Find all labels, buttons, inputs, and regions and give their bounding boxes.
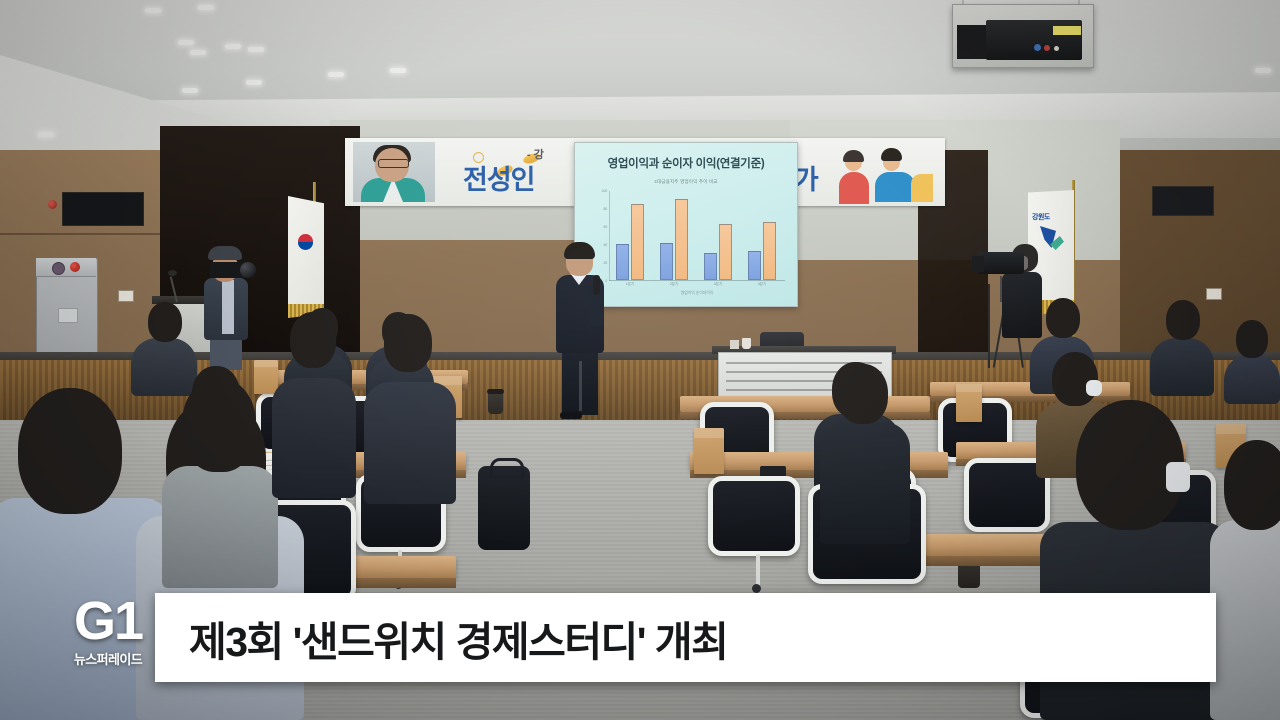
cup	[742, 338, 751, 349]
presenter	[552, 245, 610, 420]
chart-bar	[763, 222, 776, 280]
slide-title: 영업이익과 순이자 이익(연결기준)	[575, 155, 797, 171]
chart-x-tick: 1분기	[613, 282, 647, 287]
chair-leg	[756, 554, 760, 588]
chart-bar	[704, 253, 717, 280]
korean-flag-icon	[288, 196, 324, 316]
chart-y-tick: 100	[602, 189, 608, 193]
wall-display-panel	[1152, 186, 1214, 216]
ceiling-light-icon	[38, 132, 54, 137]
projector-port	[1044, 45, 1050, 51]
slide-subtitle: 4대금융지주 영업이익 추이 비교	[575, 179, 797, 185]
chart-y-tick: 80	[603, 207, 607, 211]
paper-bag	[956, 384, 982, 422]
ceiling-light-icon	[390, 68, 406, 73]
ceiling-light-icon	[328, 72, 344, 77]
ceiling-light-icon	[225, 44, 241, 49]
chart-x-axis	[609, 280, 785, 281]
cup-lid	[487, 389, 504, 394]
handheld-microphone-icon	[593, 275, 600, 295]
chart-bar	[719, 224, 732, 280]
chart-x-tick: 3분기	[701, 282, 735, 287]
chart-bar	[631, 204, 644, 280]
backdrop-portrait	[353, 142, 435, 202]
chair-wheel	[752, 584, 761, 593]
status-led-icon	[70, 262, 80, 272]
projector-port	[1034, 44, 1041, 51]
ceiling-light-icon	[248, 47, 264, 52]
audience-member	[272, 312, 356, 498]
audience-member	[820, 364, 910, 544]
chart-bar	[660, 243, 673, 280]
microphone-icon	[168, 270, 177, 276]
coffee-cup	[488, 392, 503, 414]
chart-x-tick: 2분기	[657, 282, 691, 287]
chart-y-tick: 60	[603, 225, 607, 229]
ceiling-light-icon	[246, 80, 262, 85]
audience-member	[364, 314, 456, 504]
slide-bar-chart: 100806040200 1분기2분기3분기4분기 영업이익 순이자이익	[609, 191, 785, 281]
chart-bar	[748, 251, 761, 280]
wall-sign	[1206, 288, 1222, 300]
cabinet-control-head	[36, 258, 96, 277]
alarm-light-icon	[48, 200, 57, 209]
video-camera-icon	[978, 252, 1024, 274]
headline-text: 제3회 '샌드위치 경제스터디' 개최	[189, 608, 727, 668]
photographer	[196, 238, 258, 368]
broadcast-frame: - 강 전성인 인가 영업이익과 순이자 이익(연결기준) 4대금융지주 영업이…	[0, 0, 1280, 720]
ceiling-light-icon	[178, 40, 194, 45]
chart-bar-group: 4분기	[745, 191, 779, 280]
chair	[708, 476, 800, 556]
backdrop-main-text: 전성인	[463, 158, 535, 197]
chart-legend: 영업이익 순이자이익	[609, 291, 785, 296]
projector-port	[1054, 46, 1059, 51]
cabinet-plate	[58, 308, 78, 323]
ceiling-light-icon	[190, 50, 206, 55]
lower-third-banner: 제3회 '샌드위치 경제스터디' 개최	[155, 593, 1216, 682]
ceiling-light-icon	[198, 5, 214, 10]
camera-lens-icon	[240, 262, 256, 278]
cup	[730, 340, 739, 349]
audience-member-foreground	[1210, 440, 1280, 720]
provincial-flag-label: 강원도	[1032, 212, 1050, 222]
projector-label	[1053, 26, 1081, 35]
chart-bar-group: 3분기	[701, 191, 735, 280]
ceiling-light-icon	[182, 88, 198, 93]
chart-bar	[616, 244, 629, 280]
paper-bag	[694, 428, 724, 474]
chart-bar	[675, 199, 688, 280]
ceiling-light-icon	[145, 8, 161, 13]
ceiling-light-icon	[1255, 68, 1271, 73]
chart-bar-group: 2분기	[657, 191, 691, 280]
audience-member	[162, 378, 278, 588]
wall-display-panel	[62, 192, 144, 226]
gauge-icon	[52, 262, 65, 275]
audience-member	[1150, 300, 1214, 396]
chart-bar-group: 1분기	[613, 191, 647, 280]
backpack	[478, 466, 530, 550]
chart-x-tick: 4분기	[745, 282, 779, 287]
audience-member	[1224, 320, 1280, 404]
backpack-handle	[490, 458, 524, 478]
